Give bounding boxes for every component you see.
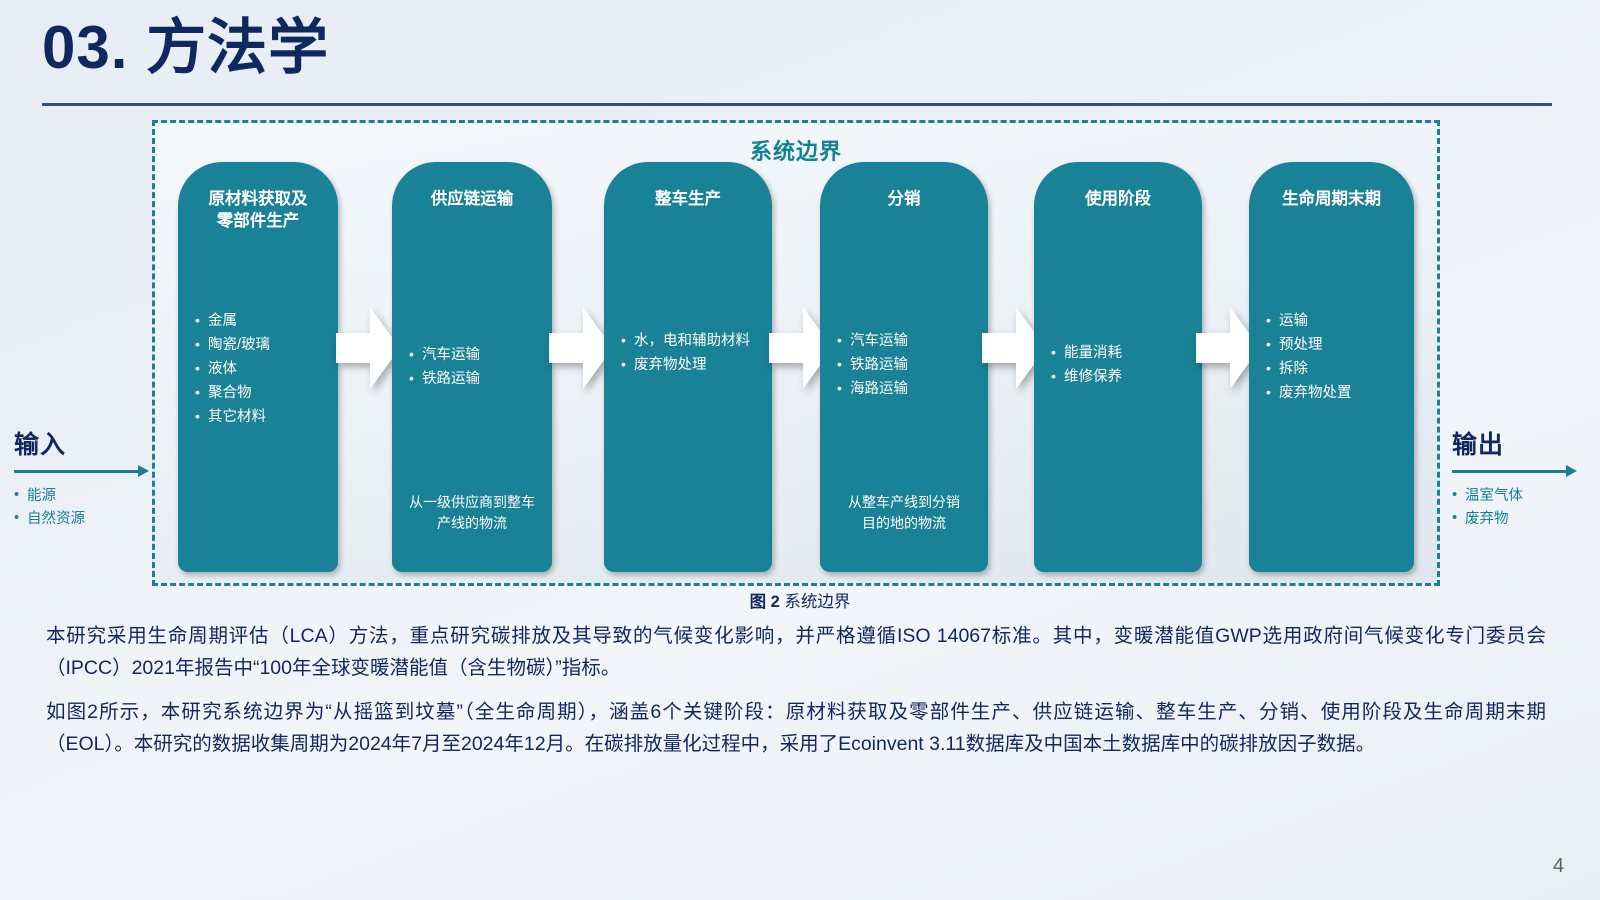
stage-box-raw-material[interactable]: 原材料获取及 零部件生产 金属 陶瓷/玻璃 液体 聚合物 其它材料	[178, 162, 338, 572]
output-item-list: 温室气体 废弃物	[1452, 485, 1600, 531]
boundary-title: 系统边界	[152, 134, 1440, 166]
stage-item-list: 水，电和辅助材料 废弃物处理	[621, 330, 764, 378]
stage-box-vehicle-production[interactable]: 整车生产 水，电和辅助材料 废弃物处理	[604, 162, 772, 572]
system-boundary-diagram: 系统边界 原材料获取及 零部件生产 金属 陶瓷/玻璃 液体 聚合物 其它材料 供…	[0, 112, 1600, 592]
input-label: 输入	[14, 425, 164, 461]
stage-note: 从整车产线到分销 目的地的物流	[828, 492, 980, 534]
figure-caption: 图 2 系统边界	[0, 588, 1600, 612]
output-annotation: 输出 温室气体 废弃物	[1452, 425, 1600, 531]
list-item: 其它材料	[195, 406, 330, 430]
list-item: 陶瓷/玻璃	[195, 334, 330, 358]
output-label: 输出	[1452, 425, 1600, 461]
stage-item-list: 汽车运输 铁路运输 海路运输	[837, 330, 980, 402]
list-item: 维修保养	[1051, 366, 1194, 390]
list-item: 废弃物处理	[621, 354, 764, 378]
list-item: 汽车运输	[837, 330, 980, 354]
list-item: 拆除	[1266, 358, 1406, 382]
list-item: 预处理	[1266, 334, 1406, 358]
list-item: 自然资源	[14, 508, 164, 531]
stage-title: 供应链运输	[392, 188, 552, 210]
list-item: 液体	[195, 358, 330, 382]
stage-box-end-of-life[interactable]: 生命周期末期 运输 预处理 拆除 废弃物处置	[1249, 162, 1414, 572]
list-item: 金属	[195, 310, 330, 334]
input-annotation: 输入 能源 自然资源	[14, 425, 164, 531]
body-text: 本研究采用生命周期评估（LCA）方法，重点研究碳排放及其导致的气候变化影响，并严…	[46, 621, 1546, 773]
stage-title: 整车生产	[604, 188, 772, 210]
stage-title: 分销	[820, 188, 988, 210]
stage-title: 生命周期末期	[1249, 188, 1414, 210]
stage-box-use-phase[interactable]: 使用阶段 能量消耗 维修保养	[1034, 162, 1202, 572]
input-item-list: 能源 自然资源	[14, 485, 164, 531]
stage-box-distribution[interactable]: 分销 汽车运输 铁路运输 海路运输 从整车产线到分销 目的地的物流	[820, 162, 988, 572]
list-item: 运输	[1266, 310, 1406, 334]
list-item: 聚合物	[195, 382, 330, 406]
stage-item-list: 运输 预处理 拆除 废弃物处置	[1266, 310, 1406, 406]
stage-title: 原材料获取及 零部件生产	[178, 188, 338, 233]
output-arrow-icon	[1452, 464, 1600, 478]
figure-caption-number: 图 2	[750, 593, 780, 611]
list-item: 废弃物处置	[1266, 382, 1406, 406]
stage-title: 使用阶段	[1034, 188, 1202, 210]
list-item: 废弃物	[1452, 508, 1600, 531]
list-item: 铁路运输	[409, 368, 544, 392]
list-item: 能量消耗	[1051, 342, 1194, 366]
stage-note: 从一级供应商到整车 产线的物流	[400, 492, 544, 534]
list-item: 铁路运输	[837, 354, 980, 378]
list-item: 汽车运输	[409, 344, 544, 368]
page-number: 4	[1553, 855, 1564, 878]
stage-box-supply-chain-transport[interactable]: 供应链运输 汽车运输 铁路运输 从一级供应商到整车 产线的物流	[392, 162, 552, 572]
list-item: 海路运输	[837, 378, 980, 402]
stage-item-list: 能量消耗 维修保养	[1051, 342, 1194, 390]
stage-item-list: 金属 陶瓷/玻璃 液体 聚合物 其它材料	[195, 310, 330, 430]
figure-caption-text: 系统边界	[780, 593, 851, 611]
flow-arrow-icon	[336, 305, 400, 391]
list-item: 水，电和辅助材料	[621, 330, 764, 354]
list-item: 温室气体	[1452, 485, 1600, 508]
stage-item-list: 汽车运输 铁路运输	[409, 344, 544, 392]
paragraph-methodology: 本研究采用生命周期评估（LCA）方法，重点研究碳排放及其导致的气候变化影响，并严…	[46, 621, 1546, 684]
paragraph-system-boundary: 如图2所示，本研究系统边界为“从摇篮到坟墓”（全生命周期），涵盖6个关键阶段：原…	[46, 697, 1546, 760]
page-title: 03. 方法学	[42, 10, 329, 85]
title-divider	[42, 103, 1552, 106]
list-item: 能源	[14, 485, 164, 508]
input-arrow-icon	[14, 464, 164, 478]
